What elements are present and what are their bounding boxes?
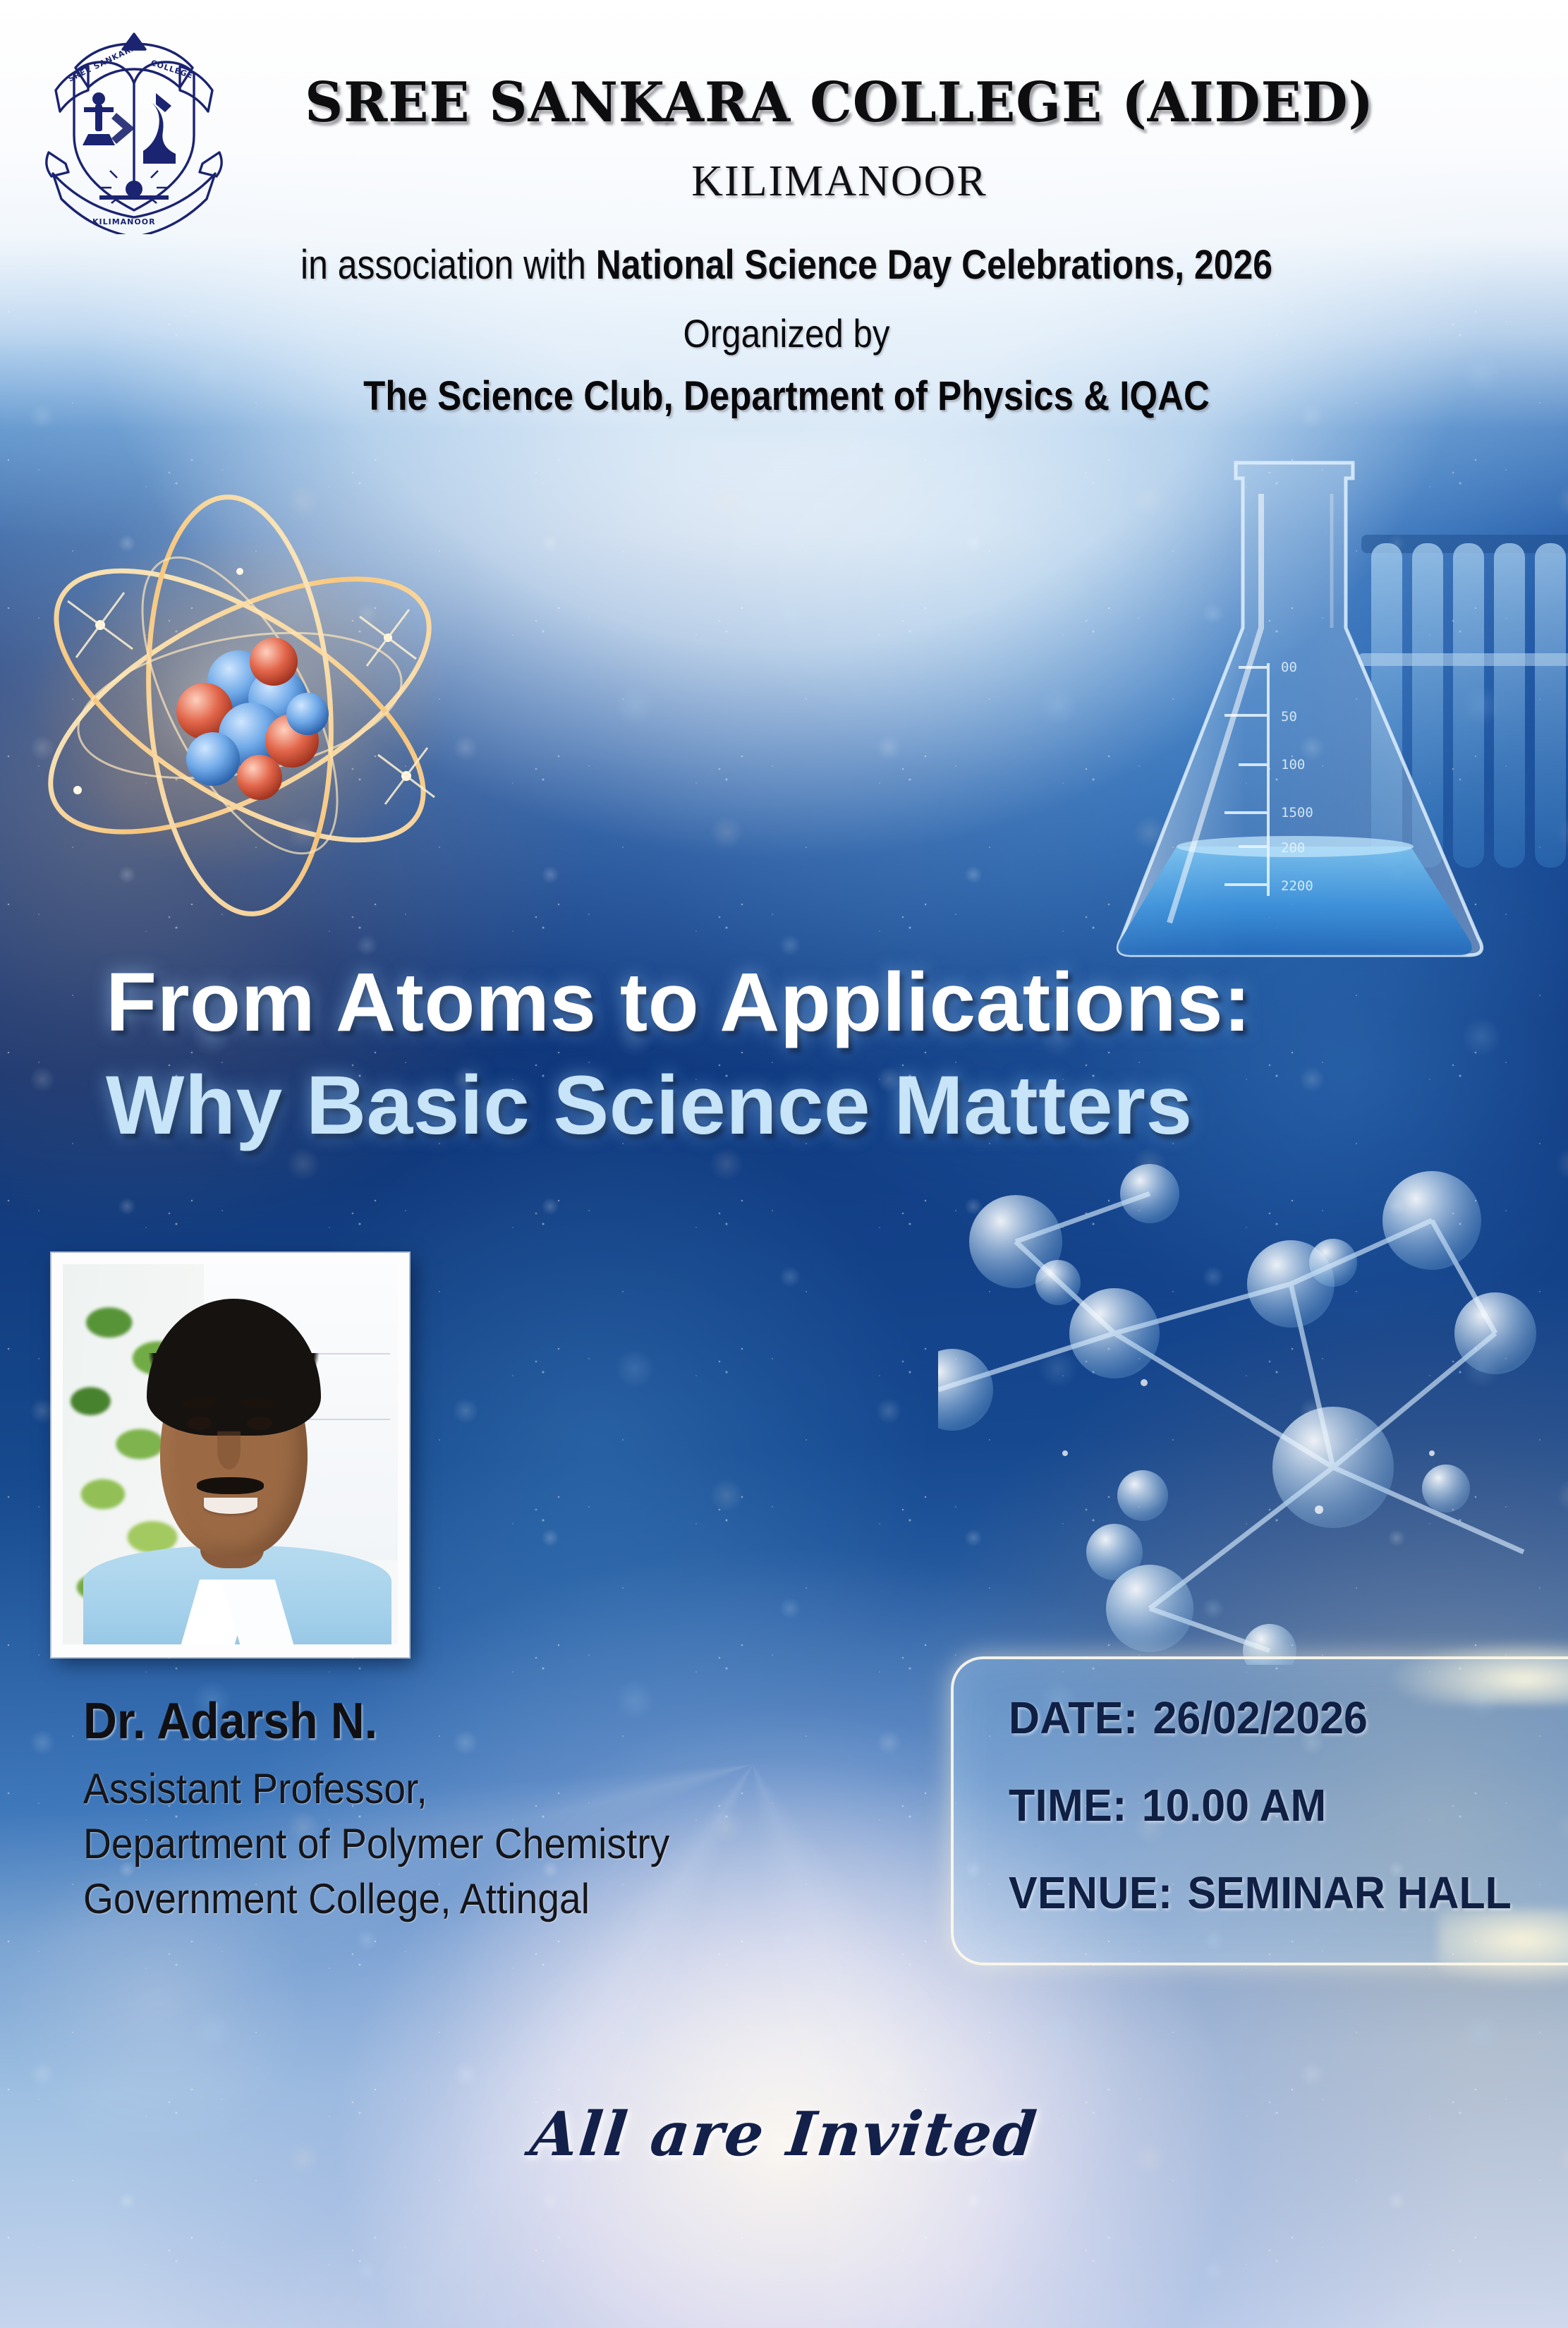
speaker-details: Dr. Adarsh N. Assistant Professor, Depar… (83, 1692, 873, 1927)
date-label: DATE: (1009, 1692, 1138, 1743)
event-info-rows: DATE:26/02/2026 TIME:10.00 AM VENUE:SEMI… (1009, 1692, 1568, 1920)
association-line: in association with National Science Day… (219, 241, 1354, 289)
speaker-institution: Government College, Attingal (83, 1872, 810, 1927)
title-line-1: From Atoms to Applications: (106, 956, 1488, 1049)
speaker-designation: Assistant Professor, (83, 1762, 810, 1817)
college-place: KILIMANOOR (233, 157, 1446, 207)
portrait-eye-right (247, 1417, 272, 1430)
organizers: The Science Club, Department of Physics … (206, 372, 1367, 420)
event-time-row: TIME:10.00 AM (1009, 1779, 1557, 1831)
atom-illustration-icon (0, 487, 487, 924)
svg-text:00: 00 (1281, 660, 1297, 675)
time-value: 10.00 AM (1142, 1780, 1326, 1831)
svg-text:2200: 2200 (1281, 878, 1313, 894)
erlenmeyer-flask-icon: 0050 1001500 2002200 (1086, 451, 1568, 988)
svg-text:200: 200 (1281, 840, 1305, 856)
svg-text:50: 50 (1281, 709, 1297, 725)
event-venue-row: VENUE:SEMINAR HALL (1009, 1867, 1557, 1919)
poster-root: 0050 1001500 2002200 (0, 0, 1568, 2328)
molecule-network-icon (938, 1157, 1568, 1665)
association-prefix: in association with (300, 242, 596, 288)
venue-label: VENUE: (1009, 1867, 1173, 1918)
invitation-text: All are Invited (0, 2099, 1568, 2170)
event-info-box: DATE:26/02/2026 TIME:10.00 AM VENUE:SEMI… (951, 1656, 1568, 1965)
portrait-nose (217, 1431, 241, 1469)
speaker-portrait (63, 1264, 398, 1644)
svg-text:1500: 1500 (1281, 805, 1313, 820)
speaker-photo-frame (51, 1253, 409, 1657)
infobox-glow-bottom-right (1438, 1909, 1568, 1987)
college-name: SREE SANKARA COLLEGE (AIDED) (257, 71, 1421, 135)
poster-header: SREE SANKARA COLLEGE KILIMANOOR SREE SAN… (0, 0, 1568, 451)
svg-text:100: 100 (1281, 757, 1305, 772)
portrait-eye-left (187, 1417, 212, 1430)
organized-by-label: Organized by (206, 310, 1367, 356)
association-event: National Science Day Celebrations, 2026 (596, 242, 1272, 288)
venue-value: SEMINAR HALL (1187, 1867, 1511, 1918)
page-title: From Atoms to Applications: Why Basic Sc… (106, 956, 1488, 1152)
time-label: TIME: (1009, 1780, 1127, 1831)
event-date-row: DATE:26/02/2026 (1009, 1692, 1557, 1744)
portrait-mouth (204, 1498, 257, 1514)
svg-text:KILIMANOOR: KILIMANOOR (92, 217, 156, 226)
date-value: 26/02/2026 (1153, 1692, 1368, 1743)
speaker-department: Department of Polymer Chemistry (83, 1817, 810, 1872)
college-crest-icon: SREE SANKARA COLLEGE KILIMANOOR (32, 23, 236, 234)
speaker-name: Dr. Adarsh N. (83, 1692, 810, 1752)
title-line-2: Why Basic Science Matters (106, 1059, 1488, 1152)
portrait-moustache (197, 1477, 264, 1494)
